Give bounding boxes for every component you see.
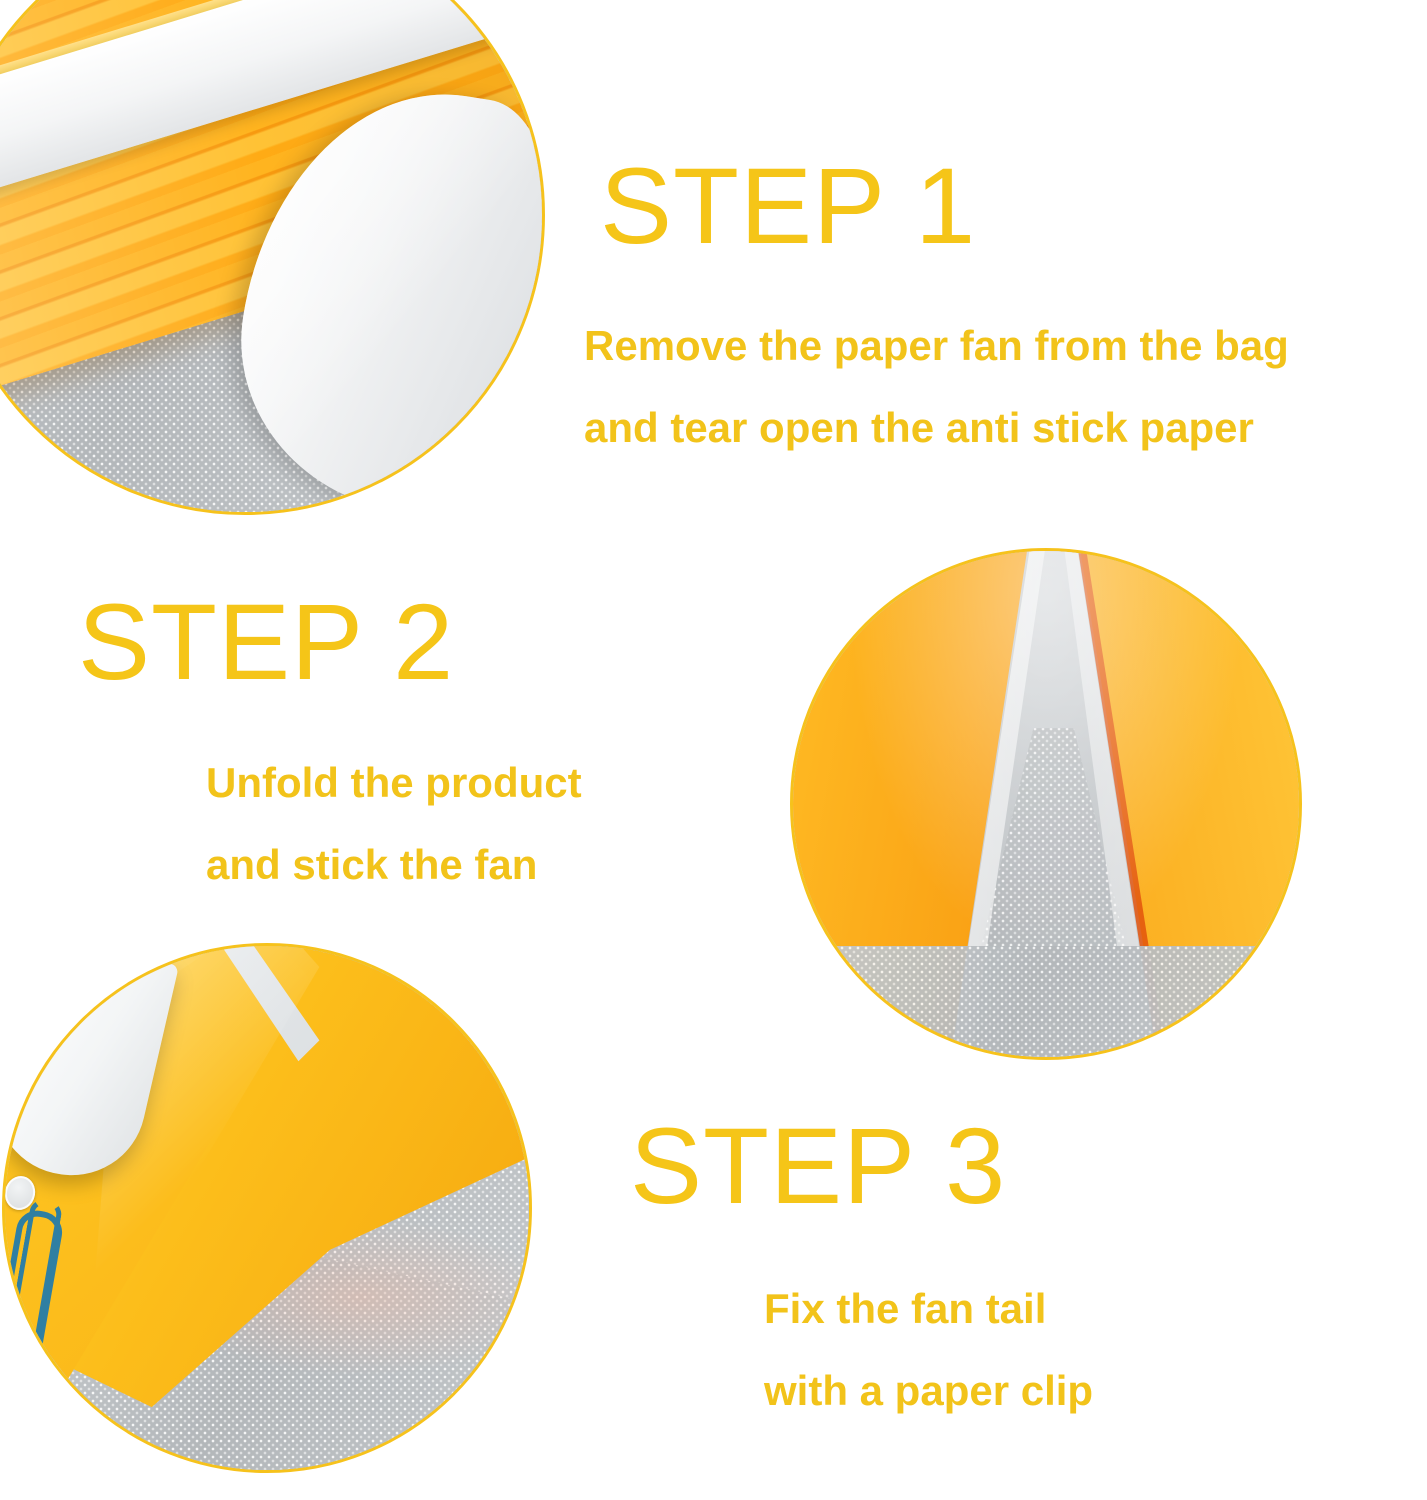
instruction-infographic: STEP 1 Remove the paper fan from the bag… bbox=[0, 0, 1427, 1500]
step2-heading: STEP 2 bbox=[78, 588, 454, 696]
step2-photo-circle bbox=[2, 943, 532, 1473]
step2-body: Unfold the product and stick the fan bbox=[206, 742, 582, 906]
step1-photo-circle bbox=[0, 0, 545, 515]
step3-body-line-1: Fix the fan tail bbox=[764, 1268, 1093, 1350]
step2-body-line-2: and stick the fan bbox=[206, 824, 582, 906]
step3-body: Fix the fan tail with a paper clip bbox=[764, 1268, 1093, 1432]
step1-body: Remove the paper fan from the bag and te… bbox=[584, 305, 1289, 469]
step3-photo-circle bbox=[790, 548, 1302, 1060]
step3-heading: STEP 3 bbox=[630, 1112, 1006, 1220]
step2-body-line-1: Unfold the product bbox=[206, 742, 582, 824]
step1-body-line-2: and tear open the anti stick paper bbox=[584, 387, 1289, 469]
photo-gloss bbox=[793, 551, 1299, 1057]
step1-body-line-1: Remove the paper fan from the bag bbox=[584, 305, 1289, 387]
step1-heading: STEP 1 bbox=[600, 152, 976, 260]
step3-body-line-2: with a paper clip bbox=[764, 1350, 1093, 1432]
